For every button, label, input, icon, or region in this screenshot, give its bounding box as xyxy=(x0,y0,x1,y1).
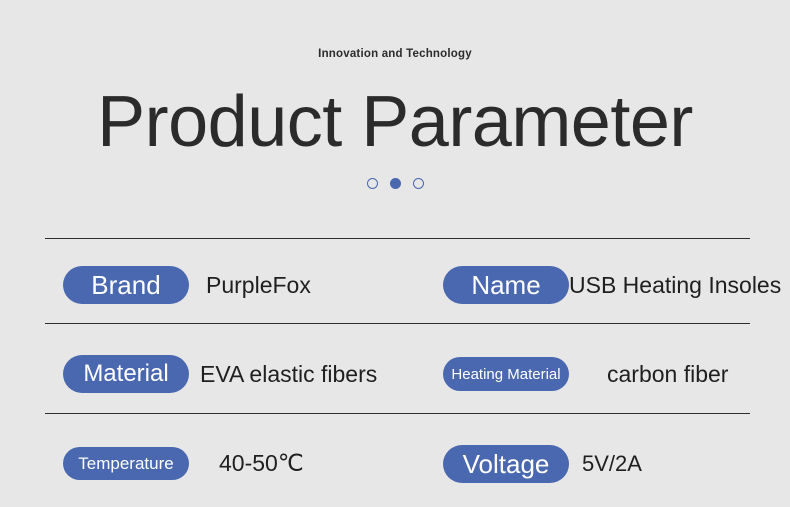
spec-label-temperature: Temperature xyxy=(63,447,189,480)
page-title: Product Parameter xyxy=(0,86,790,158)
spec-value-voltage: 5V/2A xyxy=(582,451,642,477)
left-edge-clipped-mark: 丨丨 xyxy=(0,264,10,304)
carousel-dot-1[interactable] xyxy=(367,178,378,189)
spec-value-name: USB Heating Insoles xyxy=(569,272,781,299)
carousel-dot-2-active[interactable] xyxy=(390,178,401,189)
spec-cell-material: Material EVA elastic fibers xyxy=(63,355,377,393)
spec-label-material: Material xyxy=(63,355,189,393)
product-parameter-banner: Innovation and Technology Product Parame… xyxy=(0,0,790,507)
spec-value-temperature: 40-50℃ xyxy=(219,450,304,477)
spec-value-material: EVA elastic fibers xyxy=(200,361,377,388)
spec-divider-top xyxy=(45,238,750,239)
carousel-dots xyxy=(0,178,790,189)
spec-value-heating-material: carbon fiber xyxy=(607,361,728,388)
spec-cell-name: Name USB Heating Insoles xyxy=(443,266,781,304)
spec-divider-middle xyxy=(45,323,750,324)
spec-label-name: Name xyxy=(443,266,569,304)
spec-value-brand: PurpleFox xyxy=(206,272,311,299)
spec-cell-heating-material: Heating Material carbon fiber xyxy=(443,357,728,391)
eyebrow-text: Innovation and Technology xyxy=(0,48,790,60)
spec-cell-temperature: Temperature 40-50℃ xyxy=(63,447,304,480)
spec-divider-bottom xyxy=(45,413,750,414)
spec-label-heating-material: Heating Material xyxy=(443,357,569,391)
carousel-dot-3[interactable] xyxy=(413,178,424,189)
spec-label-voltage: Voltage xyxy=(443,445,569,483)
spec-cell-voltage: Voltage 5V/2A xyxy=(443,445,642,483)
spec-cell-brand: Brand PurpleFox xyxy=(63,266,311,304)
spec-label-brand: Brand xyxy=(63,266,189,304)
